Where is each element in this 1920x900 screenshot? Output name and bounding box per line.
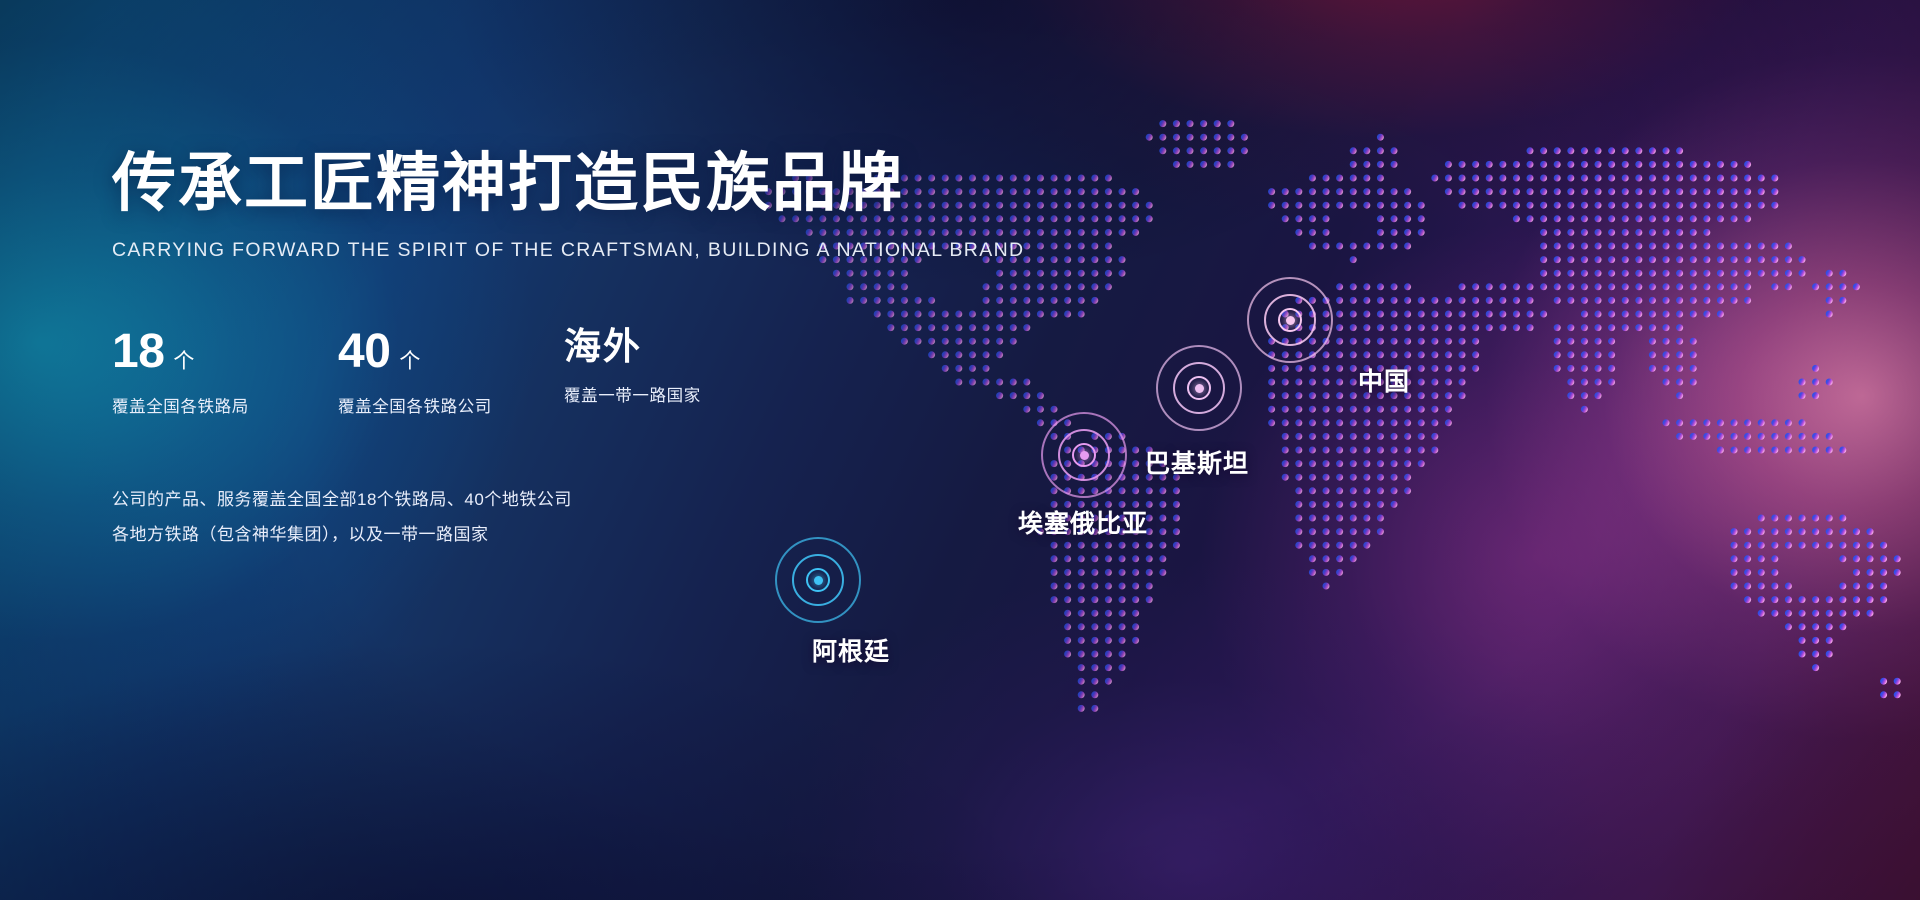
map-marker-label-ethiopia: 埃塞俄比亚 bbox=[1018, 504, 1148, 540]
stats-row: 18个覆盖全国各铁路局40个覆盖全国各铁路公司海外覆盖一带一路国家 bbox=[112, 328, 912, 417]
hero-content: 传承工匠精神打造民族品牌 CARRYING FORWARD THE SPIRIT… bbox=[112, 150, 912, 553]
stat-unit: 个 bbox=[173, 351, 194, 372]
marker-center-dot-icon bbox=[1080, 451, 1089, 460]
stat-item-2: 40个覆盖全国各铁路公司 bbox=[338, 328, 564, 417]
map-marker-label-argentina: 阿根廷 bbox=[812, 632, 890, 668]
stat-value: 18个 bbox=[112, 328, 338, 376]
page-title: 传承工匠精神打造民族品牌 bbox=[112, 150, 912, 217]
hero-banner: 中国巴基斯坦埃塞俄比亚阿根廷 传承工匠精神打造民族品牌 CARRYING FOR… bbox=[0, 0, 1920, 900]
stat-unit: 个 bbox=[399, 351, 420, 372]
stat-value: 海外 bbox=[564, 328, 701, 365]
description-line-2: 各地方铁路（包含神华集团），以及一带一路国家 bbox=[112, 518, 912, 553]
description-paragraph: 公司的产品、服务覆盖全国全部18个铁路局、40个地铁公司 各地方铁路（包含神华集… bbox=[112, 483, 912, 553]
stat-number: 18 bbox=[112, 328, 164, 376]
stat-value: 40个 bbox=[338, 328, 564, 376]
stat-number: 40 bbox=[338, 328, 390, 376]
marker-center-dot-icon bbox=[814, 576, 823, 585]
marker-center-dot-icon bbox=[1195, 384, 1204, 393]
map-marker-label-pakistan: 巴基斯坦 bbox=[1145, 444, 1249, 480]
stat-label: 覆盖全国各铁路局 bbox=[112, 393, 338, 417]
stat-label: 覆盖一带一路国家 bbox=[564, 382, 701, 406]
marker-center-dot-icon bbox=[1286, 316, 1295, 325]
description-line-1: 公司的产品、服务覆盖全国全部18个铁路局、40个地铁公司 bbox=[112, 483, 912, 518]
stat-label: 覆盖全国各铁路公司 bbox=[338, 393, 564, 417]
stat-item-3: 海外覆盖一带一路国家 bbox=[564, 328, 701, 417]
map-marker-label-china: 中国 bbox=[1358, 362, 1410, 398]
stat-number: 海外 bbox=[564, 328, 642, 365]
stat-item-1: 18个覆盖全国各铁路局 bbox=[112, 328, 338, 417]
page-subtitle: CARRYING FORWARD THE SPIRIT OF THE CRAFT… bbox=[112, 239, 912, 262]
